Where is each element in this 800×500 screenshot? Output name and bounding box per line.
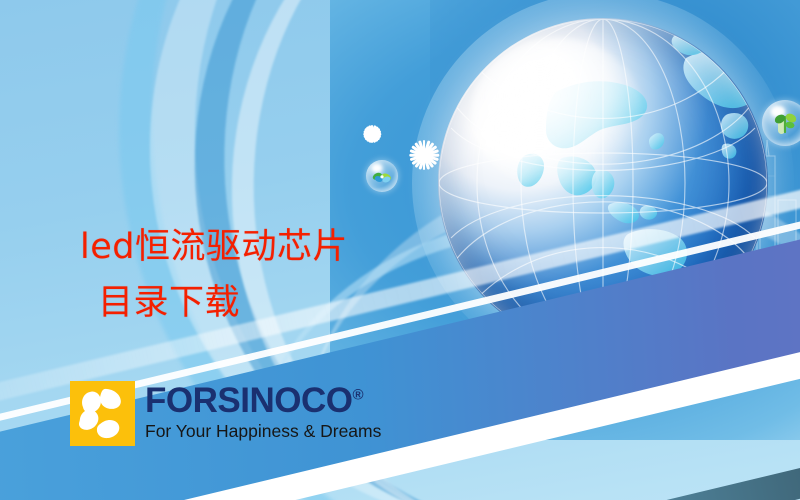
pinwheel-petals-mark-icon bbox=[70, 381, 135, 446]
headline-text: led恒流驱动芯片 目录下载 bbox=[80, 165, 510, 386]
registered-trademark-icon: ® bbox=[352, 386, 363, 403]
logo-company-name-text: FORSINOCO bbox=[145, 381, 352, 420]
green-sprout-icon bbox=[762, 100, 800, 146]
company-logo[interactable]: FORSINOCO® For Your Happiness & Dreams bbox=[70, 381, 381, 446]
four-petal-pinwheel-icon bbox=[70, 381, 135, 446]
logo-company-name: FORSINOCO® bbox=[145, 383, 381, 418]
bubble-sprout-right bbox=[762, 100, 800, 146]
promo-banner: led恒流驱动芯片 目录下载 FORSINOCO® For Your Happi… bbox=[0, 0, 800, 500]
logo-text-block: FORSINOCO® For Your Happiness & Dreams bbox=[145, 381, 381, 441]
sparkle-star-2 bbox=[363, 125, 381, 143]
headline-line-1: led恒流驱动芯片 bbox=[80, 227, 348, 267]
logo-tagline: For Your Happiness & Dreams bbox=[145, 423, 381, 441]
headline-line-2: 目录下载 bbox=[80, 276, 510, 331]
